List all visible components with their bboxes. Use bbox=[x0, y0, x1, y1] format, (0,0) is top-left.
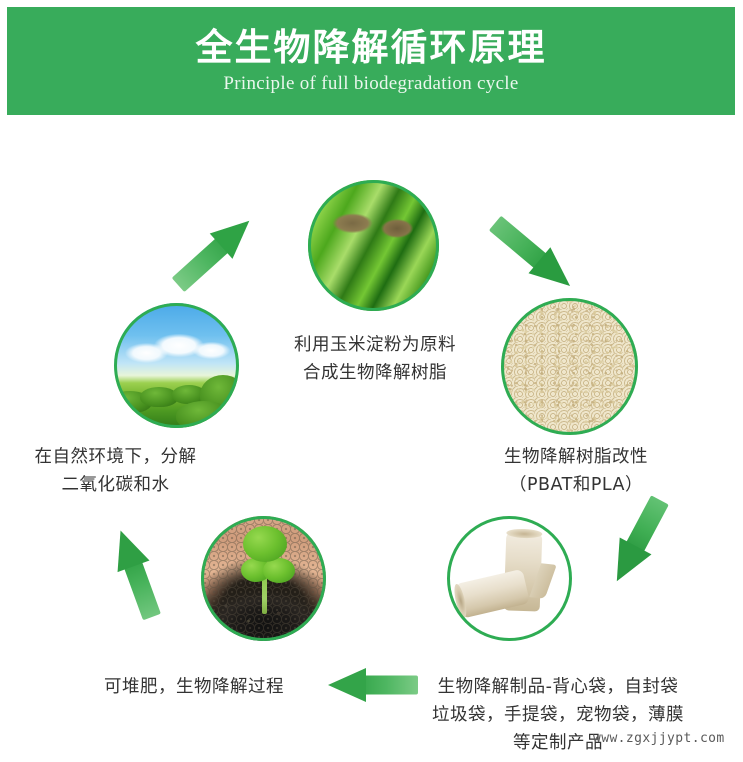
banner-title-chinese: 全生物降解循环原理 bbox=[196, 27, 547, 70]
arrow-seedling-to-nature bbox=[104, 523, 168, 623]
sprout-stem bbox=[262, 576, 267, 614]
watermark-url: www.zgxjjypt.com bbox=[593, 731, 725, 746]
header-banner: 全生物降解循环原理 Principle of full biodegradati… bbox=[7, 7, 735, 115]
label-resin-step: 生物降解树脂改性 （PBAT和PLA） bbox=[486, 443, 666, 499]
sprout-leaf-top bbox=[243, 526, 287, 562]
label-nature-step: 在自然环境下，分解 二氧化碳和水 bbox=[8, 443, 223, 499]
film-rolls-image bbox=[447, 516, 572, 641]
arrow-resin-to-rolls bbox=[601, 492, 676, 590]
bush-front-right bbox=[176, 401, 232, 428]
arrow-nature-to-corn bbox=[167, 208, 261, 298]
corn-plants-image bbox=[308, 180, 439, 311]
resin-pellets-image bbox=[501, 298, 638, 435]
infographic-page: 全生物降解循环原理 Principle of full biodegradati… bbox=[0, 0, 743, 762]
seedling-soil-image bbox=[201, 516, 326, 641]
label-corn-step: 利用玉米淀粉为原料 合成生物降解树脂 bbox=[275, 331, 475, 387]
banner-title-english: Principle of full biodegradation cycle bbox=[223, 73, 518, 95]
arrow-corn-to-resin bbox=[484, 210, 581, 299]
nature-landscape-image bbox=[114, 303, 239, 428]
label-seedling-step: 可堆肥，生物降解过程 bbox=[78, 673, 310, 701]
